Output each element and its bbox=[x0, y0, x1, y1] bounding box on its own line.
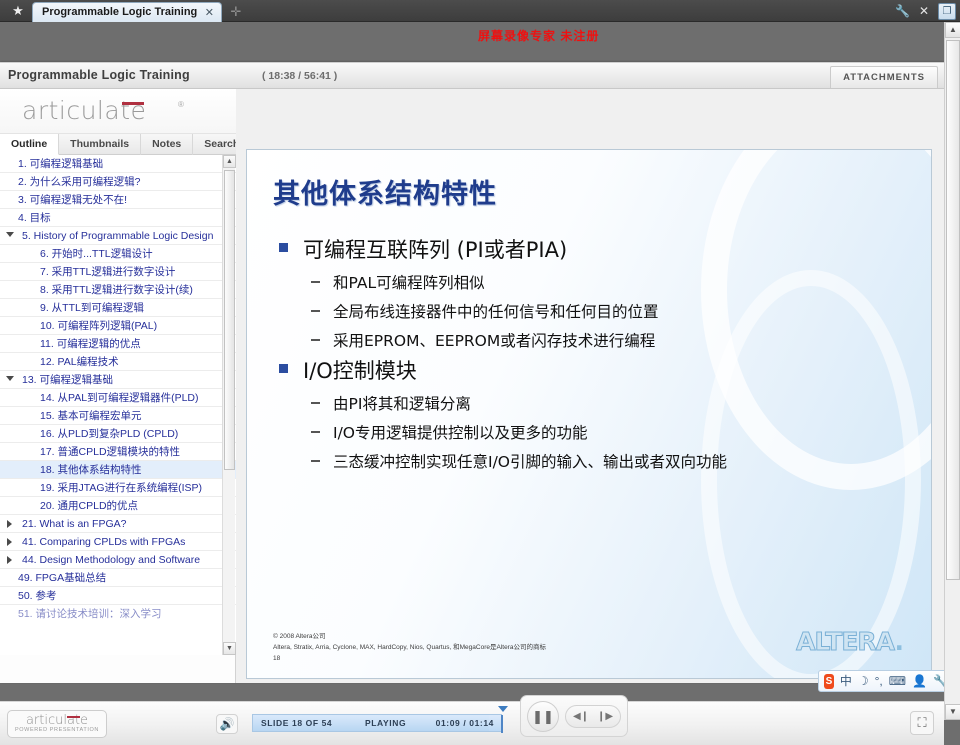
outline-item-label: 11. 可编程逻辑的优点 bbox=[40, 338, 141, 350]
sidebar-tabs: OutlineThumbnailsNotesSearch bbox=[0, 134, 236, 155]
footer-trademarks: Altera, Stratix, Arria, Cyclone, MAX, Ha… bbox=[273, 642, 546, 653]
outline-item-label: 1. 可编程逻辑基础 bbox=[18, 158, 103, 170]
fullscreen-button[interactable]: ⛶ bbox=[910, 711, 934, 735]
badge-line-1: articulate bbox=[8, 713, 106, 728]
outline-item-label: 5. History of Programmable Logic Design bbox=[22, 230, 213, 242]
transport-controls: ❚❚ ◀❙ ❙▶ bbox=[520, 695, 628, 737]
square-bullet-icon bbox=[279, 243, 288, 252]
window-close-icon[interactable]: ✕ bbox=[919, 4, 929, 18]
outline-item[interactable]: 18. 其他体系结构特性 bbox=[0, 461, 236, 479]
course-time-display: ( 18:38 / 56:41 ) bbox=[262, 70, 337, 82]
outline-item[interactable]: 20. 通用CPLD的优点 bbox=[0, 497, 236, 515]
close-icon[interactable]: ✕ bbox=[205, 6, 214, 19]
tab-thumbnails[interactable]: Thumbnails bbox=[59, 134, 141, 155]
outline-item[interactable]: 15. 基本可编程宏单元 bbox=[0, 407, 236, 425]
outline-item[interactable]: 2. 为什么采用可编程逻辑? bbox=[0, 173, 236, 191]
sogou-logo-icon[interactable]: S bbox=[824, 674, 834, 689]
outline-item[interactable]: 41. Comparing CPLDs with FPGAs bbox=[0, 533, 236, 551]
prev-next-group: ◀❙ ❙▶ bbox=[565, 705, 621, 728]
slide-sub-bullet-text: 三态缓冲控制实现任意I/O引脚的输入、输出或者双向功能 bbox=[333, 453, 727, 471]
slide-bullet-level1: I/O控制模块 bbox=[267, 355, 927, 385]
outline-item-label: 3. 可编程逻辑无处不在! bbox=[18, 194, 127, 206]
browser-tab-label: Programmable Logic Training bbox=[42, 6, 197, 18]
outline-item[interactable]: 3. 可编程逻辑无处不在! bbox=[0, 191, 236, 209]
outline-item-label: 20. 通用CPLD的优点 bbox=[40, 500, 138, 512]
new-tab-icon[interactable]: ✛ bbox=[228, 4, 244, 20]
volume-button[interactable]: 🔊 bbox=[216, 714, 238, 734]
soft-keyboard-icon[interactable]: ⌨ bbox=[889, 672, 906, 690]
slide-bullet-level1: 可编程互联阵列 (PI或者PIA) bbox=[267, 234, 927, 264]
slide-bullet-level2: 采用EPROM、EEPROM或者闪存技术进行编程 bbox=[267, 329, 927, 351]
outline-item-label: 50. 参考 bbox=[18, 590, 57, 602]
articulate-logo-text: articulate bbox=[22, 96, 146, 125]
slide-sub-bullet-text: 和PAL可编程阵列相似 bbox=[333, 274, 485, 292]
outline-item[interactable]: 1. 可编程逻辑基础 bbox=[0, 155, 236, 173]
slide-bullet-level2: 三态缓冲控制实现任意I/O引脚的输入、输出或者双向功能 bbox=[267, 450, 927, 472]
outline-item-label: 18. 其他体系结构特性 bbox=[40, 464, 142, 476]
dash-bullet-icon bbox=[311, 310, 320, 312]
slide-footer: © 2008 Altera公司 Altera, Stratix, Arria, … bbox=[273, 631, 546, 664]
slide-title: 其他体系结构特性 bbox=[273, 172, 497, 211]
browser-chrome: ★ Programmable Logic Training ✕ ✛ 🔧 ✕ ❐ bbox=[0, 0, 960, 22]
altera-logo-text: ALTERA bbox=[796, 627, 894, 656]
square-bullet-icon bbox=[279, 364, 288, 373]
chevron-right-icon[interactable] bbox=[7, 538, 12, 546]
outline-item[interactable]: 51. 请讨论技术培训：深入学习 bbox=[0, 605, 236, 623]
player-titlebar: Programmable Logic Training ( 18:38 / 56… bbox=[0, 63, 944, 89]
outline-item-label: 10. 可编程阵列逻辑(PAL) bbox=[40, 320, 157, 332]
player-control-bar: articulate POWERED PRESENTATION 🔊 SLIDE … bbox=[0, 701, 944, 745]
outline-item[interactable]: 44. Design Methodology and Software bbox=[0, 551, 236, 569]
outline-list[interactable]: 1. 可编程逻辑基础2. 为什么采用可编程逻辑?3. 可编程逻辑无处不在!4. … bbox=[0, 155, 236, 655]
slide-sub-bullet-text: I/O专用逻辑提供控制以及更多的功能 bbox=[333, 424, 588, 442]
outline-item-label: 44. Design Methodology and Software bbox=[22, 554, 200, 566]
outline-item[interactable]: 6. 开始时...TTL逻辑设计 bbox=[0, 245, 236, 263]
slide-bullet-level2: 由PI将其和逻辑分离 bbox=[267, 392, 927, 414]
slide-bullet-text: 可编程互联阵列 (PI或者PIA) bbox=[303, 238, 567, 262]
slide-body: 可编程互联阵列 (PI或者PIA)和PAL可编程阵列相似全局布线连接器件中的任何… bbox=[267, 230, 927, 472]
slide-bullet-text: I/O控制模块 bbox=[303, 359, 417, 383]
slide-bullet-level2: I/O专用逻辑提供控制以及更多的功能 bbox=[267, 421, 927, 443]
outline-item[interactable]: 4. 目标 bbox=[0, 209, 236, 227]
chevron-right-icon[interactable] bbox=[7, 520, 12, 528]
page-title: Programmable Logic Training bbox=[8, 68, 190, 82]
outline-item[interactable]: 12. PAL编程技术 bbox=[0, 353, 236, 371]
chevron-down-icon[interactable] bbox=[6, 232, 14, 237]
outline-item-label: 17. 普通CPLD逻辑模块的特性 bbox=[40, 446, 180, 458]
slide-sub-bullet-text: 全局布线连接器件中的任何信号和任何目的位置 bbox=[333, 303, 659, 321]
dash-bullet-icon bbox=[311, 460, 320, 462]
outline-item-label: 21. What is an FPGA? bbox=[22, 518, 126, 530]
slide-sub-bullet-text: 由PI将其和逻辑分离 bbox=[333, 395, 471, 413]
dash-bullet-icon bbox=[311, 281, 320, 283]
altera-logo-dot: . bbox=[895, 627, 904, 656]
pause-button[interactable]: ❚❚ bbox=[527, 701, 559, 732]
altera-logo: ALTERA. bbox=[796, 627, 903, 656]
sogou-ime-toolbar[interactable]: S 中 ☽ °, ⌨ 👤 🔧 bbox=[818, 670, 954, 692]
outline-item-label: 9. 从TTL到可编程逻辑 bbox=[40, 302, 144, 314]
badge-accent-bar bbox=[67, 716, 80, 718]
footer-copyright: © 2008 Altera公司 bbox=[273, 631, 546, 642]
seek-caret-icon bbox=[498, 706, 508, 712]
next-slide-button[interactable]: ❙▶ bbox=[595, 709, 615, 726]
slide-bullet-level2: 和PAL可编程阵列相似 bbox=[267, 271, 927, 293]
badge-line-2: POWERED PRESENTATION bbox=[8, 727, 106, 733]
scroll-down-icon[interactable]: ▼ bbox=[223, 642, 236, 655]
wrench-icon[interactable]: 🔧 bbox=[895, 4, 910, 18]
slide-sub-bullet-text: 采用EPROM、EEPROM或者闪存技术进行编程 bbox=[333, 332, 655, 350]
previous-slide-button[interactable]: ◀❙ bbox=[571, 709, 591, 726]
outline-item[interactable]: 8. 采用TTL逻辑进行数字设计(续) bbox=[0, 281, 236, 299]
outline-item-label: 13. 可编程逻辑基础 bbox=[22, 374, 113, 386]
outline-item-label: 15. 基本可编程宏单元 bbox=[40, 410, 142, 422]
outline-scrollbar-thumb[interactable] bbox=[224, 170, 235, 470]
outline-item[interactable]: 9. 从TTL到可编程逻辑 bbox=[0, 299, 236, 317]
tab-outline[interactable]: Outline bbox=[0, 134, 59, 155]
footer-page-number: 18 bbox=[273, 653, 546, 664]
dash-bullet-icon bbox=[311, 431, 320, 433]
page-scroll-up-icon[interactable]: ▲ bbox=[945, 22, 960, 38]
logo-accent-bar bbox=[122, 102, 144, 105]
outline-item-label: 16. 从PLD到复杂PLD (CPLD) bbox=[40, 428, 178, 440]
browser-scrollbar-thumb[interactable] bbox=[946, 40, 960, 580]
registered-mark: ® bbox=[178, 100, 184, 109]
window-controls: 🔧 ✕ ❐ bbox=[895, 2, 956, 20]
moon-icon[interactable]: ☽ bbox=[858, 672, 869, 690]
outline-item[interactable]: 50. 参考 bbox=[0, 587, 236, 605]
articulate-player: Programmable Logic Training ( 18:38 / 56… bbox=[0, 62, 944, 682]
outline-item[interactable]: 11. 可编程逻辑的优点 bbox=[0, 335, 236, 353]
chevron-down-icon[interactable] bbox=[6, 376, 14, 381]
slide-stage: 其他体系结构特性 可编程互联阵列 (PI或者PIA)和PAL可编程阵列相似全局布… bbox=[236, 89, 944, 683]
dash-bullet-icon bbox=[311, 402, 320, 404]
outline-item-label: 8. 采用TTL逻辑进行数字设计(续) bbox=[40, 284, 193, 296]
outline-item[interactable]: 10. 可编程阵列逻辑(PAL) bbox=[0, 317, 236, 335]
seek-handle[interactable] bbox=[501, 715, 503, 733]
outline-item-label: 14. 从PAL到可编程逻辑器件(PLD) bbox=[40, 392, 199, 404]
outline-item-label: 7. 采用TTL逻辑进行数字设计 bbox=[40, 266, 175, 278]
outline-item[interactable]: 16. 从PLD到复杂PLD (CPLD) bbox=[0, 425, 236, 443]
tab-attachments[interactable]: ATTACHMENTS bbox=[830, 66, 938, 88]
outline-item[interactable]: 14. 从PAL到可编程逻辑器件(PLD) bbox=[0, 389, 236, 407]
slide-bullet-level2: 全局布线连接器件中的任何信号和任何目的位置 bbox=[267, 300, 927, 322]
dash-bullet-icon bbox=[311, 339, 320, 341]
restore-window-icon[interactable]: ❐ bbox=[938, 3, 956, 20]
articulate-logo: articulate ® bbox=[0, 89, 236, 134]
outline-item-label: 51. 请讨论技术培训：深入学习 bbox=[18, 608, 162, 620]
outline-item[interactable]: 19. 采用JTAG进行在系统编程(ISP) bbox=[0, 479, 236, 497]
browser-scrollbar[interactable]: ▲ ▼ bbox=[944, 22, 960, 720]
tab-notes[interactable]: Notes bbox=[141, 134, 193, 155]
bookmark-star-icon[interactable]: ★ bbox=[10, 3, 26, 19]
page-scroll-down-icon[interactable]: ▼ bbox=[945, 704, 960, 720]
outline-item-label: 19. 采用JTAG进行在系统编程(ISP) bbox=[40, 482, 202, 494]
seek-progress-bar[interactable]: SLIDE 18 OF 54 PLAYING 01:09 / 01:14 bbox=[252, 714, 502, 732]
ime-language-mode[interactable]: 中 bbox=[840, 672, 852, 690]
sidebar: articulate ® OutlineThumbnailsNotesSearc… bbox=[0, 89, 236, 683]
outline-item[interactable]: 13. 可编程逻辑基础 bbox=[0, 371, 236, 389]
screen-recorder-watermark: 屏幕录像专家 未注册 bbox=[478, 27, 599, 44]
outline-item-label: 41. Comparing CPLDs with FPGAs bbox=[22, 536, 185, 548]
outline-item[interactable]: 49. FPGA基础总结 bbox=[0, 569, 236, 587]
outline-item-label: 12. PAL编程技术 bbox=[40, 356, 119, 368]
outline-item-label: 49. FPGA基础总结 bbox=[18, 572, 106, 584]
user-icon[interactable]: 👤 bbox=[912, 672, 927, 690]
scroll-up-icon[interactable]: ▲ bbox=[223, 155, 236, 168]
slide-canvas: 其他体系结构特性 可编程互联阵列 (PI或者PIA)和PAL可编程阵列相似全局布… bbox=[246, 149, 932, 679]
articulate-powered-badge: articulate POWERED PRESENTATION bbox=[7, 710, 107, 738]
browser-tab-programmable-logic-training[interactable]: Programmable Logic Training ✕ bbox=[32, 2, 222, 22]
punctuation-icon[interactable]: °, bbox=[875, 672, 883, 690]
outline-scrollbar[interactable]: ▲ ▼ bbox=[222, 155, 235, 655]
outline-item-label: 6. 开始时...TTL逻辑设计 bbox=[40, 248, 153, 260]
outline-item[interactable]: 17. 普通CPLD逻辑模块的特性 bbox=[0, 443, 236, 461]
chevron-right-icon[interactable] bbox=[7, 556, 12, 564]
outline-item[interactable]: 5. History of Programmable Logic Design bbox=[0, 227, 236, 245]
outline-item-label: 4. 目标 bbox=[18, 212, 51, 224]
outline-item-label: 2. 为什么采用可编程逻辑? bbox=[18, 176, 141, 188]
outline-item[interactable]: 21. What is an FPGA? bbox=[0, 515, 236, 533]
outline-item[interactable]: 7. 采用TTL逻辑进行数字设计 bbox=[0, 263, 236, 281]
